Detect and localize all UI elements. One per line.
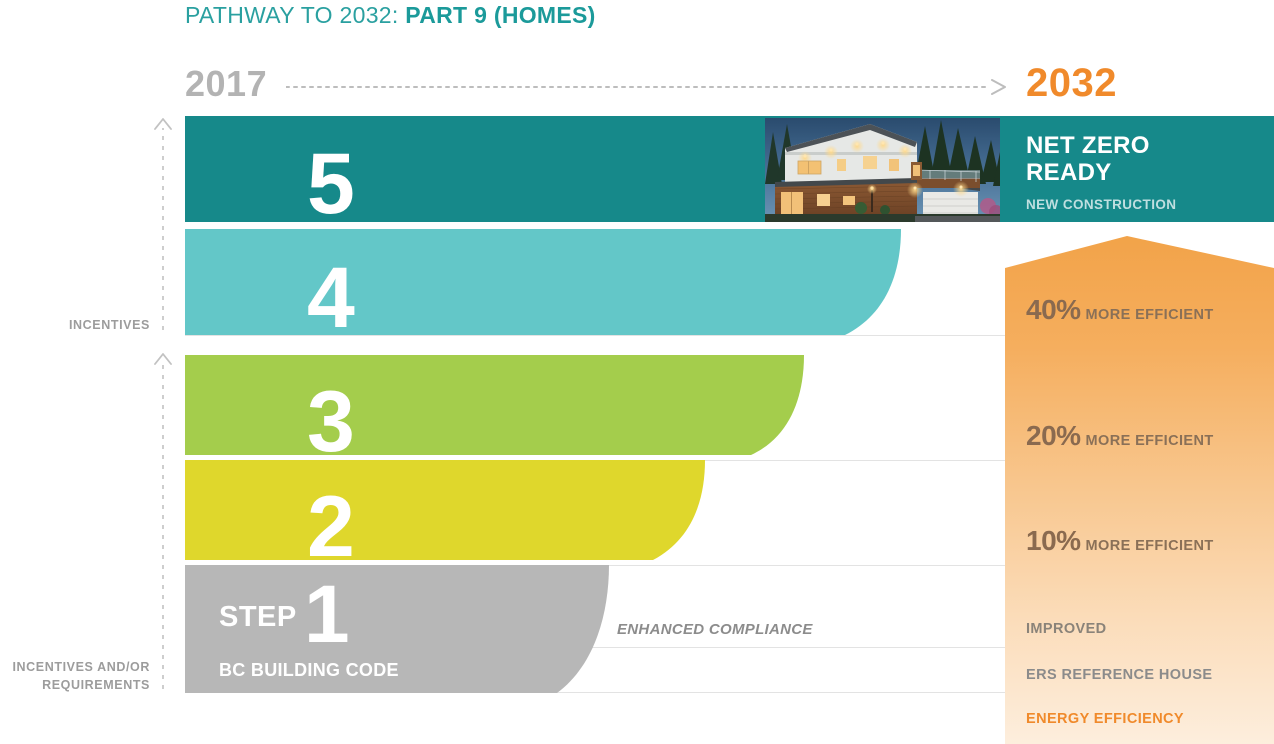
axis-label-incentives: INCENTIVES xyxy=(0,316,150,334)
axis-label-requirements-line2: REQUIREMENTS xyxy=(0,676,150,694)
page-title-lead: PATHWAY TO 2032: xyxy=(185,2,399,28)
page-title: PATHWAY TO 2032: PART 9 (HOMES) xyxy=(185,2,596,29)
efficiency-tier-20-percent: 20% xyxy=(1026,420,1081,451)
efficiency-tier-20-label: MORE EFFICIENT xyxy=(1086,433,1214,449)
label-energy-efficiency: ENERGY EFFICIENCY xyxy=(1026,711,1184,727)
net-zero-ready-box: NET ZERO READY NEW CONSTRUCTION xyxy=(1005,116,1274,222)
efficiency-tier-10: 10%MORE EFFICIENT xyxy=(1026,525,1214,557)
enhanced-compliance-note: ENHANCED COMPLIANCE xyxy=(617,621,813,638)
efficiency-tier-10-percent: 10% xyxy=(1026,525,1081,556)
efficiency-tier-20: 20%MORE EFFICIENT xyxy=(1026,420,1214,452)
net-zero-ready-title-line1: NET ZERO xyxy=(1026,133,1150,160)
step-bar-1-caption: BC BUILDING CODE xyxy=(219,660,399,681)
net-zero-ready-title-line2: READY xyxy=(1026,160,1150,187)
efficiency-tier-40-label: MORE EFFICIENT xyxy=(1086,307,1214,323)
label-ers-reference-house: ERS REFERENCE HOUSE xyxy=(1026,667,1212,683)
axis-label-requirements-line1: INCENTIVES AND/OR xyxy=(0,658,150,676)
axis-label-requirements: INCENTIVES AND/OR REQUIREMENTS xyxy=(0,658,150,694)
net-zero-home-photo xyxy=(765,118,1000,222)
dashed-arrow-up-icon-incentives xyxy=(154,116,172,334)
dotted-arrow-right-icon xyxy=(286,79,1008,95)
page-title-emphasis: PART 9 (HOMES) xyxy=(405,2,595,28)
step-bar-1-number: 1 xyxy=(304,574,349,656)
infographic-canvas: PATHWAY TO 2032: PART 9 (HOMES) 2017 203… xyxy=(0,0,1274,744)
step-bar-3-number: 3 xyxy=(307,379,354,465)
efficiency-tier-10-label: MORE EFFICIENT xyxy=(1086,538,1214,554)
step-bar-4-number: 4 xyxy=(307,255,354,341)
efficiency-tier-40-percent: 40% xyxy=(1026,294,1081,325)
step-bar-5-number: 5 xyxy=(307,141,354,227)
net-zero-ready-subtitle: NEW CONSTRUCTION xyxy=(1026,197,1176,212)
label-improved: IMPROVED xyxy=(1026,621,1107,637)
step-bar-2-number: 2 xyxy=(307,484,354,570)
start-year-label: 2017 xyxy=(185,66,267,102)
end-year-label: 2032 xyxy=(1026,63,1117,103)
dashed-arrow-up-icon-requirements xyxy=(154,351,172,692)
net-zero-ready-title: NET ZERO READY xyxy=(1026,133,1150,187)
efficiency-tier-40: 40%MORE EFFICIENT xyxy=(1026,294,1214,326)
step-bar-1-prefix: STEP xyxy=(219,601,297,634)
